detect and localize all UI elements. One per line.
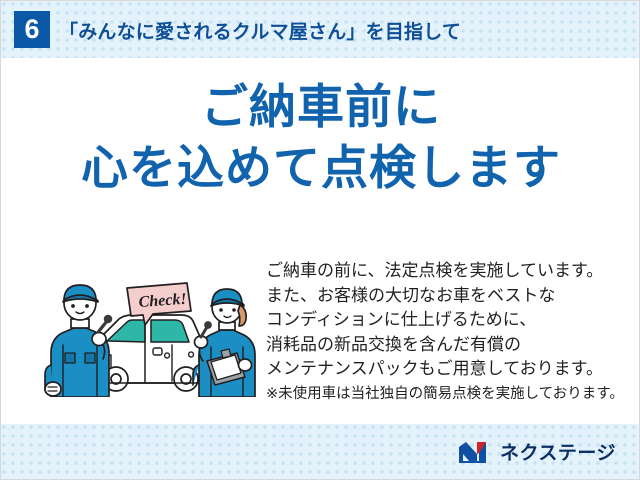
headline-line-1: ご納車前に <box>1 77 640 137</box>
check-bubble-label: Check! <box>138 291 187 311</box>
nextage-logo-text: ネクステージ <box>500 438 616 465</box>
female-mechanic-figure <box>193 289 255 397</box>
header-step-number-badge: 6 <box>14 11 50 48</box>
inspection-promo-banner: 6 「みんなに愛されるクルマ屋さん」を目指して ご納車前に 心を込めて点検します… <box>0 0 640 480</box>
body-line-4: 消耗品の新品交換を含んだ有償の <box>266 333 626 358</box>
body-disclaimer-note: ※未使用車は当社独自の簡易点検を実施しております。 <box>266 382 626 406</box>
body-line-1: ご納車の前に、法定点検を実施しています。 <box>266 259 626 284</box>
body-line-2: また、お客様の大切なお車をベストな <box>266 284 626 309</box>
two-mechanics-with-van-illustration: Check! <box>41 269 256 397</box>
male-mechanic-figure <box>45 285 111 397</box>
van-illustration <box>95 315 201 391</box>
headline: ご納車前に 心を込めて点検します <box>1 77 640 199</box>
body-copy: ご納車の前に、法定点検を実施しています。 また、お客様の大切なお車をベストな コ… <box>266 259 626 406</box>
nextage-logo: ネクステージ <box>457 438 616 465</box>
body-line-5: メンテナンスパックもご用意しております。 <box>266 357 626 382</box>
body-line-3: コンディションに仕上げるために、 <box>266 308 626 333</box>
headline-line-2: 心を込めて点検します <box>1 137 640 199</box>
header-title: 「みんなに愛されるクルマ屋さん」を目指して <box>59 17 461 44</box>
nextage-n-logo-icon <box>457 440 493 464</box>
